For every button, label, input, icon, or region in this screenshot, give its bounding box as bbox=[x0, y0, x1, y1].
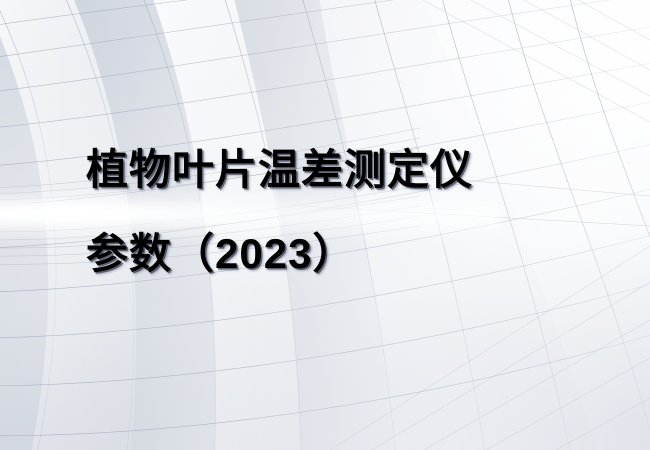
title-slide: 植物叶片温差测定仪 参数（2023） bbox=[0, 0, 650, 450]
page-title: 植物叶片温差测定仪 参数（2023） bbox=[86, 128, 606, 296]
title-line-1: 植物叶片温差测定仪 bbox=[86, 128, 606, 212]
title-line-2: 参数（2023） bbox=[86, 212, 606, 296]
